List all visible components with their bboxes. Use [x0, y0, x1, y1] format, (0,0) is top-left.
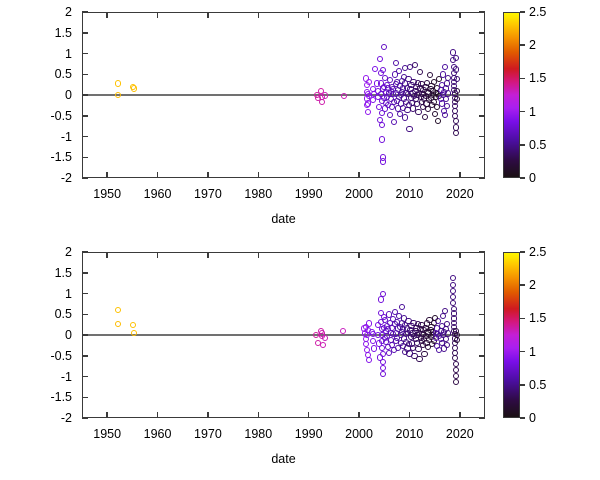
colorbar-gradient-ra — [503, 12, 520, 178]
y-axis-tick — [82, 376, 88, 378]
data-point — [322, 92, 328, 98]
data-point — [412, 62, 418, 68]
y-axis-tick — [82, 74, 88, 76]
colorbar-ra[interactable]: 00.511.522.5 — [503, 12, 520, 178]
colorbar-tick — [520, 144, 525, 146]
y-axis-tick-label: 1.5 — [30, 267, 72, 279]
data-point — [381, 44, 387, 50]
y-axis-tick-label: 2 — [30, 246, 72, 258]
x-axis-tick — [459, 12, 461, 18]
x-axis-tick — [157, 12, 159, 18]
y-axis-tick — [82, 314, 88, 316]
x-axis-tick — [258, 12, 260, 18]
x-axis-tick — [409, 252, 411, 258]
data-point — [444, 321, 450, 327]
data-point — [454, 96, 460, 102]
x-axis-tick — [459, 172, 461, 178]
y-axis-tick — [479, 115, 485, 117]
y-axis-tick-label: -1.5 — [30, 151, 72, 163]
x-axis-tick — [308, 252, 310, 258]
x-axis-tick — [308, 12, 310, 18]
x-axis-tick — [157, 172, 159, 178]
y-axis-tick — [82, 136, 88, 138]
data-point — [340, 328, 346, 334]
data-point — [320, 342, 326, 348]
y-axis-tick — [82, 157, 88, 159]
data-point — [387, 112, 393, 118]
data-point — [442, 64, 448, 70]
data-point — [443, 96, 449, 102]
data-point — [380, 371, 386, 377]
colorbar-tick-label: 0.5 — [529, 139, 546, 151]
y-axis-tick-label: 0.5 — [30, 308, 72, 320]
y-axis-tick — [479, 376, 485, 378]
y-axis-tick-label: 1 — [30, 48, 72, 60]
y-axis-tick — [479, 272, 485, 274]
y-axis-tick — [479, 11, 485, 13]
y-axis-tick — [479, 157, 485, 159]
y-axis-tick-label: -0.5 — [30, 110, 72, 122]
data-point — [444, 80, 450, 86]
colorbar-tick-label: 1.5 — [529, 72, 546, 84]
y-axis-tick-label: 1.5 — [30, 27, 72, 39]
y-axis-tick — [82, 11, 88, 13]
x-axis-tick — [106, 172, 108, 178]
data-point — [442, 308, 448, 314]
colorbar-tick — [520, 251, 525, 253]
colorbar-tick — [520, 417, 525, 419]
data-point — [391, 119, 397, 125]
x-axis-tick — [358, 252, 360, 258]
data-point — [392, 309, 398, 315]
data-point — [402, 65, 408, 71]
y-axis-tick — [82, 94, 88, 96]
x-axis-tick — [409, 412, 411, 418]
data-point — [319, 99, 325, 105]
y-axis-tick — [82, 355, 88, 357]
plot-area-ra[interactable] — [82, 12, 485, 178]
colorbar-tick — [520, 351, 525, 353]
data-point — [380, 67, 386, 73]
panel-residual-ra: -2-1.5-1-0.500.511.521950196019701980199… — [0, 0, 600, 240]
data-point — [453, 55, 459, 61]
y-axis-tick — [479, 53, 485, 55]
data-point — [406, 126, 412, 132]
y-axis-tick-label: -0.5 — [30, 350, 72, 362]
y-axis-tick — [82, 293, 88, 295]
y-axis-tick — [82, 334, 88, 336]
data-point — [444, 342, 450, 348]
data-point — [426, 317, 432, 323]
data-point — [445, 90, 451, 96]
x-axis-tick — [106, 12, 108, 18]
colorbar-tick-label: 1 — [529, 106, 536, 118]
x-axis-tick — [409, 172, 411, 178]
data-point — [393, 60, 399, 66]
data-point — [377, 354, 383, 360]
data-point — [115, 92, 121, 98]
panel-residual-dec: -2-1.5-1-0.500.511.521950196019701980199… — [0, 240, 600, 480]
data-point — [445, 330, 451, 336]
y-axis-tick-label: 0 — [30, 329, 72, 341]
colorbar-tick-label: 0.5 — [529, 379, 546, 391]
y-axis-tick-label: 0.5 — [30, 68, 72, 80]
y-axis-tick — [82, 272, 88, 274]
y-axis-tick — [479, 177, 485, 179]
colorbar-tick-label: 2 — [529, 39, 536, 51]
y-axis-tick-label: 0 — [30, 89, 72, 101]
x-axis-title-ra: date — [82, 212, 485, 226]
data-point — [427, 72, 433, 78]
data-point — [115, 80, 121, 86]
colorbar-tick-label: 1.5 — [529, 312, 546, 324]
data-point — [453, 118, 459, 124]
data-point — [453, 379, 459, 385]
y-axis-tick — [479, 314, 485, 316]
colorbar-tick — [520, 11, 525, 13]
y-axis-tick — [479, 355, 485, 357]
colorbar-tick — [520, 44, 525, 46]
data-point — [366, 357, 372, 363]
data-point — [399, 304, 405, 310]
data-point — [377, 56, 383, 62]
data-point — [131, 330, 137, 336]
data-point — [453, 373, 459, 379]
plot-area-dec[interactable] — [82, 252, 485, 418]
y-axis-tick-label: 2 — [30, 6, 72, 18]
data-point — [454, 88, 460, 94]
data-point — [322, 335, 328, 341]
x-axis-title-dec: date — [82, 452, 485, 466]
data-point — [386, 311, 392, 317]
y-axis-tick-label: -1 — [30, 131, 72, 143]
data-point — [450, 275, 456, 281]
y-axis-tick-label: -1 — [30, 371, 72, 383]
colorbar-tick — [520, 384, 525, 386]
x-axis-tick — [358, 172, 360, 178]
data-point — [422, 114, 428, 120]
y-axis-tick — [479, 136, 485, 138]
colorbar-tick — [520, 177, 525, 179]
y-axis-tick — [82, 115, 88, 117]
data-point — [453, 66, 459, 72]
data-point — [380, 158, 386, 164]
data-point — [115, 321, 121, 327]
data-point — [442, 112, 448, 118]
x-axis-tick — [308, 412, 310, 418]
x-axis-tick — [207, 252, 209, 258]
y-axis-tick-label: -2 — [30, 412, 72, 424]
data-point — [370, 338, 376, 344]
colorbar-tick — [520, 78, 525, 80]
x-axis-tick — [106, 412, 108, 418]
y-axis-tick — [479, 94, 485, 96]
x-axis-tick — [308, 172, 310, 178]
colorbar-tick — [520, 111, 525, 113]
colorbar-tick-label: 2.5 — [529, 6, 546, 18]
colorbar-gradient-dec — [503, 252, 520, 418]
x-axis-tick — [258, 172, 260, 178]
data-point — [378, 296, 384, 302]
data-point — [377, 117, 383, 123]
y-axis-tick-label: 1 — [30, 288, 72, 300]
data-point — [366, 320, 372, 326]
data-point — [130, 322, 136, 328]
colorbar-tick — [520, 318, 525, 320]
colorbar-tick-label: 0 — [529, 172, 536, 184]
colorbar-tick-label: 2.5 — [529, 246, 546, 258]
y-axis-tick — [479, 32, 485, 34]
data-point — [454, 76, 460, 82]
data-point — [417, 69, 423, 75]
data-point — [402, 114, 408, 120]
data-point — [376, 104, 382, 110]
colorbar-dec[interactable]: 00.511.522.5 — [503, 252, 520, 418]
x-axis-tick — [459, 252, 461, 258]
data-point — [450, 300, 456, 306]
data-point — [131, 85, 137, 91]
colorbar-tick-label: 1 — [529, 346, 536, 358]
y-axis-tick — [82, 397, 88, 399]
x-axis-tick — [258, 412, 260, 418]
data-point — [444, 103, 450, 109]
x-axis-tick — [358, 412, 360, 418]
x-axis-tick — [358, 12, 360, 18]
x-axis-tick — [207, 412, 209, 418]
colorbar-tick — [520, 284, 525, 286]
data-point — [453, 130, 459, 136]
x-axis-tick-label: 2020 — [430, 188, 490, 200]
data-point — [454, 337, 460, 343]
y-axis-tick — [82, 251, 88, 253]
y-axis-tick — [479, 251, 485, 253]
y-axis-tick-label: -1.5 — [30, 391, 72, 403]
data-point — [379, 136, 385, 142]
data-point — [341, 93, 347, 99]
data-point — [372, 66, 378, 72]
x-axis-tick — [409, 12, 411, 18]
data-point — [435, 118, 441, 124]
y-axis-tick — [82, 53, 88, 55]
colorbar-tick-label: 0 — [529, 412, 536, 424]
x-axis-tick — [157, 252, 159, 258]
y-axis-tick-label: -2 — [30, 172, 72, 184]
data-point — [406, 350, 412, 356]
y-axis-tick — [479, 417, 485, 419]
x-axis-tick — [459, 412, 461, 418]
x-axis-tick — [207, 12, 209, 18]
y-axis-tick — [479, 334, 485, 336]
y-axis-tick — [82, 177, 88, 179]
y-axis-tick — [479, 397, 485, 399]
x-axis-tick — [207, 172, 209, 178]
y-axis-tick — [82, 32, 88, 34]
y-axis-tick — [82, 417, 88, 419]
data-point — [366, 79, 372, 85]
y-axis-tick — [479, 74, 485, 76]
colorbar-tick-label: 2 — [529, 279, 536, 291]
data-point — [365, 109, 371, 115]
data-point — [380, 291, 386, 297]
residual-figure: -2-1.5-1-0.500.511.521950196019701980199… — [0, 0, 600, 480]
y-axis-tick — [479, 293, 485, 295]
data-point — [432, 111, 438, 117]
data-point — [416, 356, 422, 362]
x-axis-tick — [106, 252, 108, 258]
data-point — [115, 307, 121, 313]
data-point — [371, 345, 377, 351]
x-axis-tick-label: 2020 — [430, 428, 490, 440]
x-axis-tick — [258, 252, 260, 258]
x-axis-tick — [157, 412, 159, 418]
